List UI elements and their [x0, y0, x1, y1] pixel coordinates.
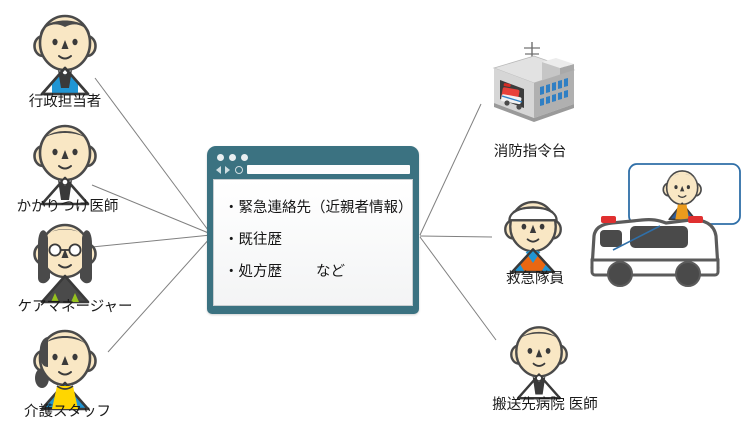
- reload-icon[interactable]: [235, 166, 243, 174]
- info-item-prescription-history: ・処方歴など: [224, 260, 404, 281]
- window-dot-yellow-icon[interactable]: [229, 154, 236, 161]
- provider-label-admin-officer: 行政担当者: [5, 95, 125, 111]
- browser-nav-row: [216, 165, 410, 175]
- consumer-hospital-doctor[interactable]: [500, 320, 578, 405]
- patient-information-window[interactable]: ・緊急連絡先（近親者情報） ・既往歴 ・処方歴など: [207, 146, 419, 314]
- consumer-label-fire-command-center: 消防指令台: [470, 145, 590, 161]
- consumer-label-paramedic: 救急隊員: [490, 272, 580, 288]
- consumer-fire-command-center[interactable]: [462, 40, 582, 145]
- line-window-to-paramedic: [420, 236, 492, 237]
- line-window-to-hospital-doctor: [420, 237, 496, 340]
- forward-arrow-icon[interactable]: [225, 166, 230, 174]
- info-item-text: 緊急連絡先（近親者情報）: [239, 200, 413, 216]
- diagram-canvas: ・緊急連絡先（近親者情報） ・既往歴 ・処方歴など: [0, 0, 745, 447]
- person-suit-white-icon: [26, 118, 104, 206]
- bullet-marker: ・: [224, 264, 239, 280]
- person-suit-white-icon: [500, 320, 578, 400]
- ambulance-group[interactable]: [580, 160, 745, 300]
- person-glasses-dark-icon: [26, 216, 104, 304]
- window-titlebar: [207, 146, 419, 177]
- info-item-medical-history: ・既往歴: [224, 228, 404, 249]
- bullet-marker: ・: [224, 200, 239, 216]
- provider-label-care-staff: 介護スタッフ: [5, 405, 130, 421]
- person-helmet-orange-icon: [494, 193, 572, 273]
- ambulance-icon: [592, 216, 718, 286]
- line-care-staff-to-window: [108, 237, 211, 352]
- consumer-paramedic[interactable]: [494, 193, 572, 278]
- provider-care-staff[interactable]: [26, 323, 104, 416]
- bullet-marker: ・: [224, 232, 239, 248]
- person-apron-yellow-icon: [26, 323, 104, 411]
- provider-family-doctor[interactable]: [26, 118, 104, 211]
- provider-admin-officer[interactable]: [26, 8, 104, 101]
- window-dot-red-icon[interactable]: [217, 154, 224, 161]
- provider-label-family-doctor: かかりつけ医師: [0, 200, 135, 216]
- provider-care-manager[interactable]: [26, 216, 104, 309]
- info-item-text: 処方歴: [239, 264, 283, 280]
- window-content-area: ・緊急連絡先（近親者情報） ・既往歴 ・処方歴など: [213, 179, 413, 306]
- line-care-manager-to-window: [92, 235, 211, 247]
- provider-label-care-manager: ケアマネージャー: [0, 300, 150, 316]
- person-suit-blue-icon: [26, 8, 104, 96]
- address-bar-input[interactable]: [247, 165, 410, 174]
- back-arrow-icon[interactable]: [216, 166, 221, 174]
- fire-station-building-icon: [462, 40, 582, 140]
- window-dot-green-icon[interactable]: [241, 154, 248, 161]
- info-item-etc: など: [282, 260, 345, 281]
- info-item-emergency-contact: ・緊急連絡先（近親者情報）: [224, 196, 404, 217]
- consumer-label-hospital-doctor: 搬送先病院 医師: [465, 398, 625, 414]
- info-item-text: 既往歴: [239, 232, 283, 248]
